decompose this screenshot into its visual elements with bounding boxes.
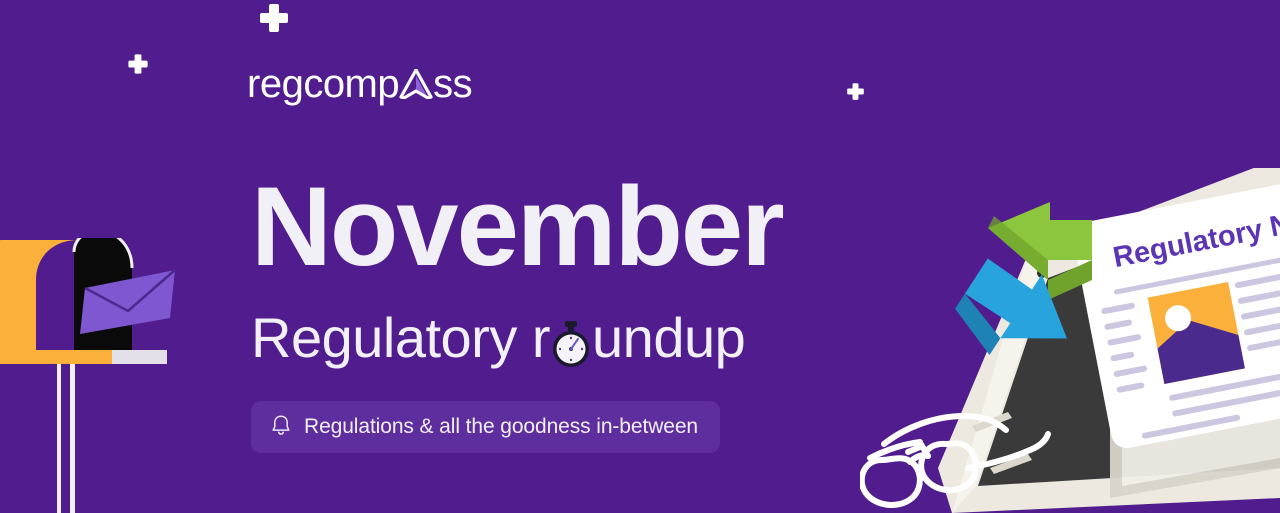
newsletter-hero-banner: Regulatory N [0, 0, 1280, 513]
subtitle-part-2: undup [592, 302, 745, 374]
brand-logo[interactable]: regcomp ss [247, 58, 472, 104]
mailbox-post [57, 356, 75, 513]
mailbox-body [0, 240, 78, 354]
page-title: November [251, 168, 783, 286]
bell-icon [271, 414, 291, 441]
plus-icon [127, 53, 149, 75]
status-badge[interactable]: Regulations & all the goodness in-betwee… [251, 401, 720, 453]
status-badge-label: Regulations & all the goodness in-betwee… [304, 415, 698, 439]
compass-needle-icon [399, 69, 433, 104]
mailbox-illustration [0, 238, 200, 513]
stopwatch-icon [549, 314, 593, 362]
plus-icon [258, 2, 290, 34]
page-subtitle: Regulatory r undup [251, 302, 745, 374]
plus-icon [846, 82, 865, 101]
mailbox-base-shadow [112, 350, 167, 364]
brand-name-part-1: regcomp [247, 64, 399, 104]
subtitle-part-1: Regulatory r [251, 302, 550, 374]
newspaper-photo [1148, 282, 1245, 384]
brand-name-part-2: ss [433, 64, 472, 104]
mailbox-base [0, 350, 115, 364]
newsletter-device-illustration: Regulatory N [860, 168, 1280, 513]
